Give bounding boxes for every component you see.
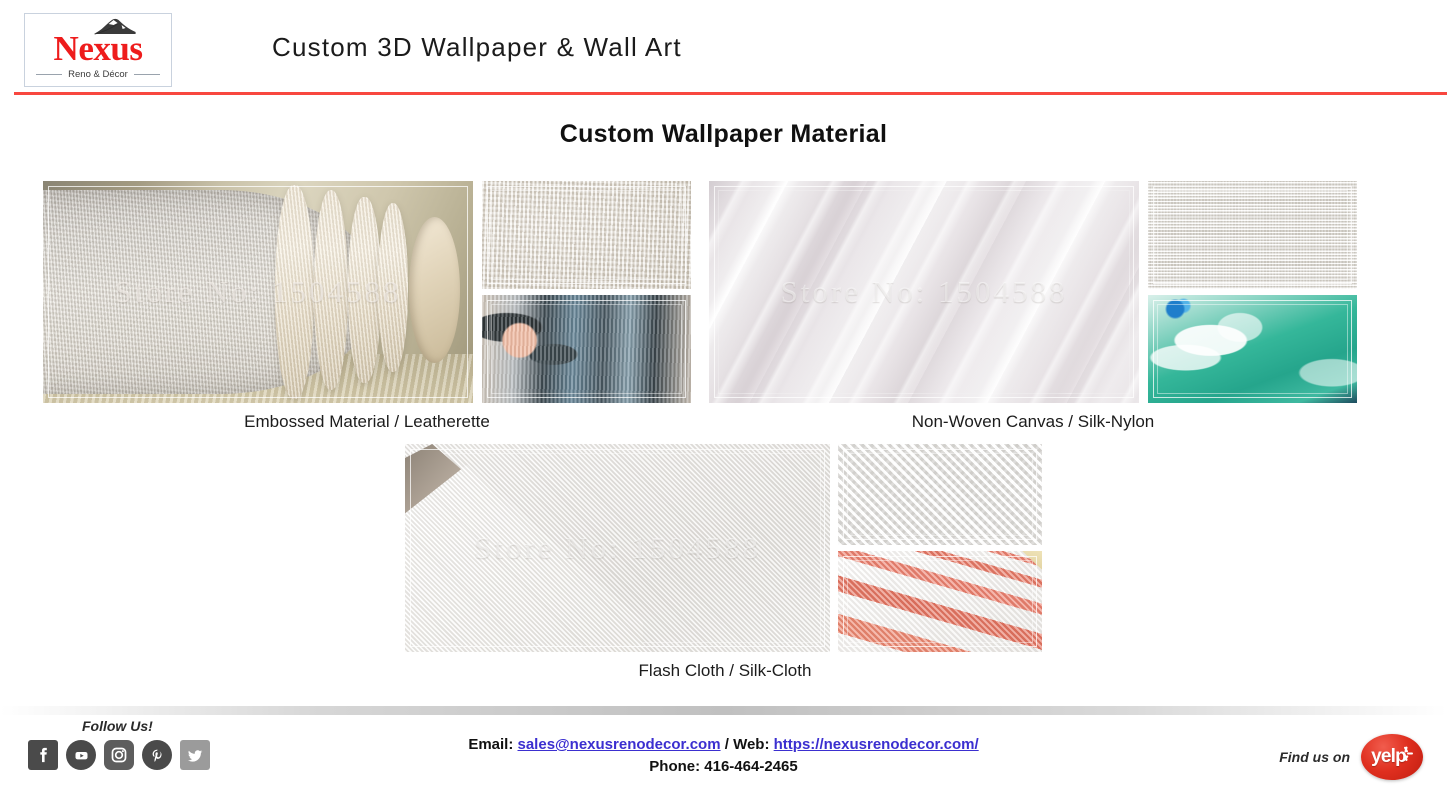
contact-info: Email: sales@nexusrenodecor.com / Web: h…: [0, 734, 1447, 778]
material-caption: Embossed Material / Leatherette: [43, 412, 691, 432]
yelp-block[interactable]: Find us on yelp: [1279, 734, 1423, 780]
phone-line: Phone: 416-464-2465: [0, 756, 1447, 778]
footer-divider: [0, 706, 1447, 715]
material-caption: Non-Woven Canvas / Silk-Nylon: [709, 412, 1357, 432]
logo-dash-left: [36, 74, 62, 75]
page-header: Nexus Reno & Décor Custom 3D Wallpaper &…: [0, 0, 1447, 96]
logo-tagline-wrap: Reno & Décor: [25, 69, 171, 80]
yelp-label: Find us on: [1279, 749, 1350, 765]
yelp-logo[interactable]: yelp: [1361, 734, 1423, 780]
email-label: Email:: [468, 736, 513, 753]
material-images: Store No: 1504588: [709, 181, 1357, 403]
material-thumbnails: [838, 444, 1042, 652]
follow-us-label: Follow Us!: [82, 718, 210, 734]
material-thumb-top[interactable]: [1148, 181, 1357, 289]
material-thumbnails: [482, 181, 691, 403]
header-title: Custom 3D Wallpaper & Wall Art: [272, 32, 682, 63]
material-main-image[interactable]: Store No: 1504588: [709, 181, 1139, 403]
material-images: Store No: 1504588: [405, 444, 1045, 652]
material-main-image[interactable]: Store No: 1504588: [405, 444, 830, 652]
material-thumb-top[interactable]: [838, 444, 1042, 545]
material-thumb-bottom[interactable]: [838, 551, 1042, 652]
material-group-nonwoven: Store No: 1504588 Non-Woven Canvas / Sil…: [709, 181, 1357, 432]
page-title: Custom Wallpaper Material: [0, 120, 1447, 149]
material-images: Store No: 1504588: [43, 181, 691, 403]
material-thumb-bottom[interactable]: [1148, 295, 1357, 403]
header-divider: [14, 92, 1447, 95]
material-group-flashcloth: Store No: 1504588 Flash Cloth / Silk-Clo…: [405, 444, 1045, 681]
photo-sheen: [709, 181, 1139, 403]
email-web-line: Email: sales@nexusrenodecor.com / Web: h…: [0, 734, 1447, 756]
page-footer: Follow Us!: [0, 706, 1447, 800]
photo-roll-end: [409, 217, 461, 364]
contact-separator: /: [725, 736, 729, 753]
web-label: Web:: [733, 736, 769, 753]
nexus-logo[interactable]: Nexus Reno & Décor: [24, 13, 172, 87]
yelp-burst-icon: [1398, 746, 1414, 762]
material-caption: Flash Cloth / Silk-Cloth: [405, 661, 1045, 681]
logo-dash-right: [134, 74, 160, 75]
photo-corner-accent: [1005, 551, 1042, 577]
logo-wordmark: Nexus: [25, 29, 171, 69]
photo-roll-curl: [275, 185, 314, 398]
photo-roll-curl: [378, 203, 408, 372]
logo-tagline: Reno & Décor: [68, 69, 128, 80]
material-thumbnails: [1148, 181, 1357, 403]
email-link[interactable]: sales@nexusrenodecor.com: [518, 736, 721, 753]
material-group-embossed: Store No: 1504588 Embossed Material / Le…: [43, 181, 691, 432]
material-thumb-bottom[interactable]: [482, 295, 691, 403]
photo-roll-curl: [314, 190, 348, 390]
photo-roll-curl: [348, 197, 380, 383]
material-main-image[interactable]: Store No: 1504588: [43, 181, 473, 403]
material-thumb-top[interactable]: [482, 181, 691, 289]
photo-fold-sheet: [405, 465, 643, 652]
website-link[interactable]: https://nexusrenodecor.com/: [774, 736, 979, 753]
